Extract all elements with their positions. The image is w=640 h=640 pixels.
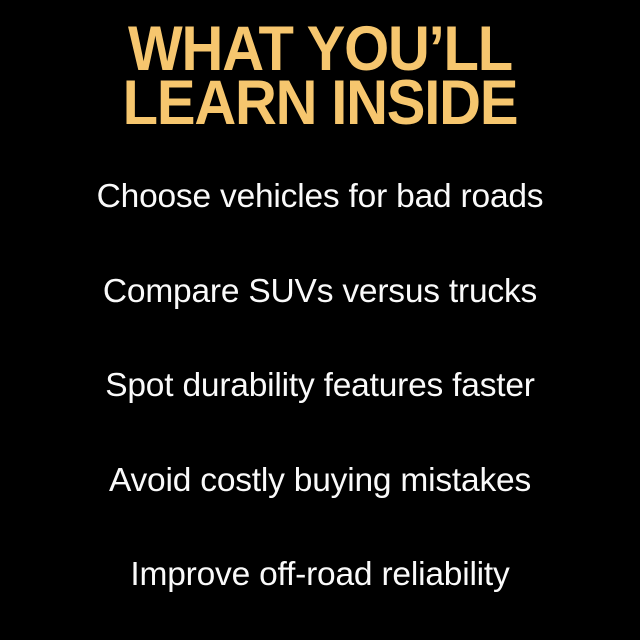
- page-title: WHAT YOU’LL LEARN INSIDE: [26, 22, 615, 130]
- list-item: Spot durability features faster: [0, 339, 640, 434]
- learn-inside-slide: WHAT YOU’LL LEARN INSIDE Choose vehicles…: [0, 0, 640, 640]
- list-item: Improve off-road reliability: [0, 528, 640, 623]
- list-item: Compare SUVs versus trucks: [0, 245, 640, 340]
- learn-list: Choose vehicles for bad roads Compare SU…: [0, 150, 640, 623]
- list-item: Choose vehicles for bad roads: [0, 150, 640, 245]
- page-title-line-2: LEARN INSIDE: [26, 76, 615, 130]
- list-item: Avoid costly buying mistakes: [0, 434, 640, 529]
